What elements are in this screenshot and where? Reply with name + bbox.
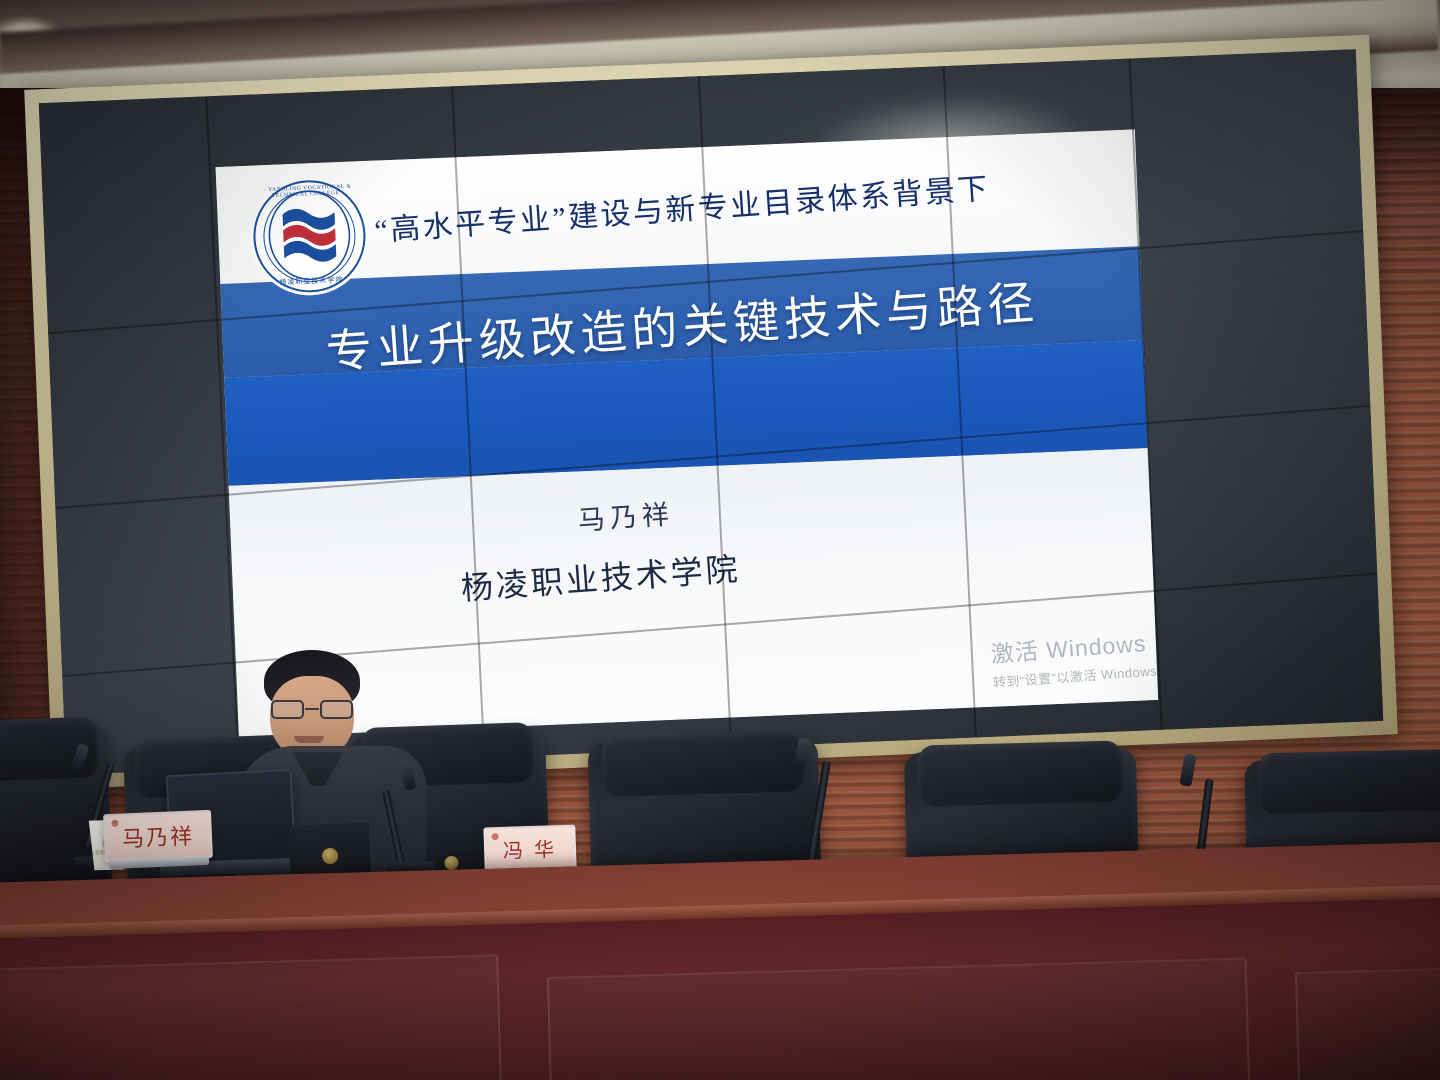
nameplate-text: 马乃祥 bbox=[121, 819, 194, 854]
desk-inset-panel bbox=[0, 954, 504, 1080]
windows-activation-watermark: 激活 Windows 转到“设置”以激活 Windows bbox=[990, 623, 1158, 691]
nameplate-dot-icon bbox=[111, 820, 118, 827]
eyeglasses-icon bbox=[269, 700, 355, 720]
led-wall-frame: · YANGLING VOCATIONAL & TECHNICAL COLLEG… bbox=[24, 35, 1398, 790]
college-logo-icon: · YANGLING VOCATIONAL & TECHNICAL COLLEG… bbox=[248, 175, 371, 298]
chair-headrest bbox=[601, 730, 805, 797]
nameplate-feng-hua[interactable]: 冯 华 bbox=[483, 825, 576, 872]
nameplate-dot-icon bbox=[492, 833, 499, 840]
desk-inset-panel bbox=[1295, 965, 1440, 1080]
chair-headrest bbox=[1258, 749, 1440, 814]
conference-room-photo: · YANGLING VOCATIONAL & TECHNICAL COLLEG… bbox=[0, 0, 1440, 1080]
desk-inset-panel bbox=[547, 958, 1252, 1080]
nameplate-ma-naixiang[interactable]: 马乃祥 bbox=[103, 810, 213, 862]
nameplate-text: 冯 华 bbox=[503, 833, 558, 864]
person-mouth bbox=[294, 736, 324, 743]
tablet-emblem-icon bbox=[322, 848, 339, 865]
chair-headrest bbox=[918, 740, 1124, 806]
